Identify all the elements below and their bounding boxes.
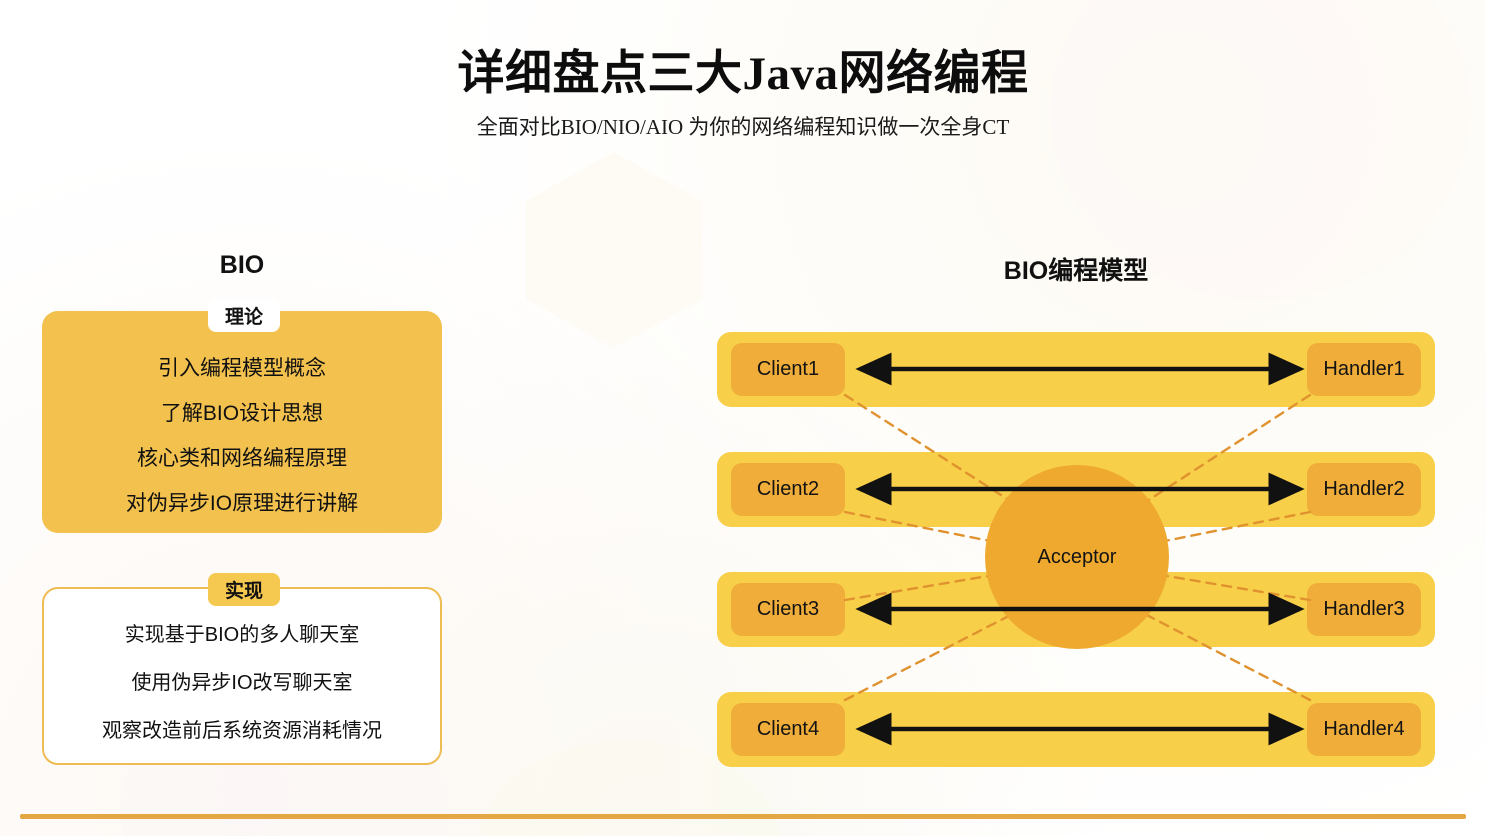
client-node: Client3 xyxy=(731,583,845,636)
implementation-item: 实现基于BIO的多人聊天室 xyxy=(125,625,359,645)
implementation-card: 实现基于BIO的多人聊天室 使用伪异步IO改写聊天室 观察改造前后系统资源消耗情… xyxy=(42,587,442,765)
handler-node: Handler2 xyxy=(1307,463,1421,516)
theory-item: 对伪异步IO原理进行讲解 xyxy=(126,493,358,514)
acceptor-node: Acceptor xyxy=(985,465,1169,649)
handler-node: Handler1 xyxy=(1307,343,1421,396)
page-title: 详细盘点三大Java网络编程 xyxy=(0,34,1486,103)
handler-node: Handler4 xyxy=(1307,703,1421,756)
client-node: Client4 xyxy=(731,703,845,756)
theory-item: 了解BIO设计思想 xyxy=(161,403,323,424)
table-row: Client4 Handler4 xyxy=(717,692,1435,767)
left-section-heading: BIO xyxy=(42,251,442,280)
handler-node: Handler3 xyxy=(1307,583,1421,636)
theory-badge: 理论 xyxy=(208,299,280,332)
theory-card: 引入编程模型概念 了解BIO设计思想 核心类和网络编程原理 对伪异步IO原理进行… xyxy=(42,311,442,533)
implementation-item: 使用伪异步IO改写聊天室 xyxy=(131,673,352,693)
theory-item: 引入编程模型概念 xyxy=(158,358,326,379)
theory-item-list: 引入编程模型概念 了解BIO设计思想 核心类和网络编程原理 对伪异步IO原理进行… xyxy=(42,358,442,514)
client-node: Client1 xyxy=(731,343,845,396)
page-subtitle: 全面对比BIO/NIO/AIO 为你的网络编程知识做一次全身CT xyxy=(0,111,1486,141)
right-section-heading: BIO编程模型 xyxy=(716,251,1436,287)
table-row: Client1 Handler1 xyxy=(717,332,1435,407)
client-node: Client2 xyxy=(731,463,845,516)
implementation-badge: 实现 xyxy=(208,573,280,606)
implementation-item-list: 实现基于BIO的多人聊天室 使用伪异步IO改写聊天室 观察改造前后系统资源消耗情… xyxy=(44,625,440,769)
footer-divider xyxy=(20,814,1466,819)
implementation-item: 观察改造前后系统资源消耗情况 xyxy=(102,721,382,741)
theory-item: 核心类和网络编程原理 xyxy=(137,448,347,469)
slide-canvas: 详细盘点三大Java网络编程 全面对比BIO/NIO/AIO 为你的网络编程知识… xyxy=(0,0,1486,836)
